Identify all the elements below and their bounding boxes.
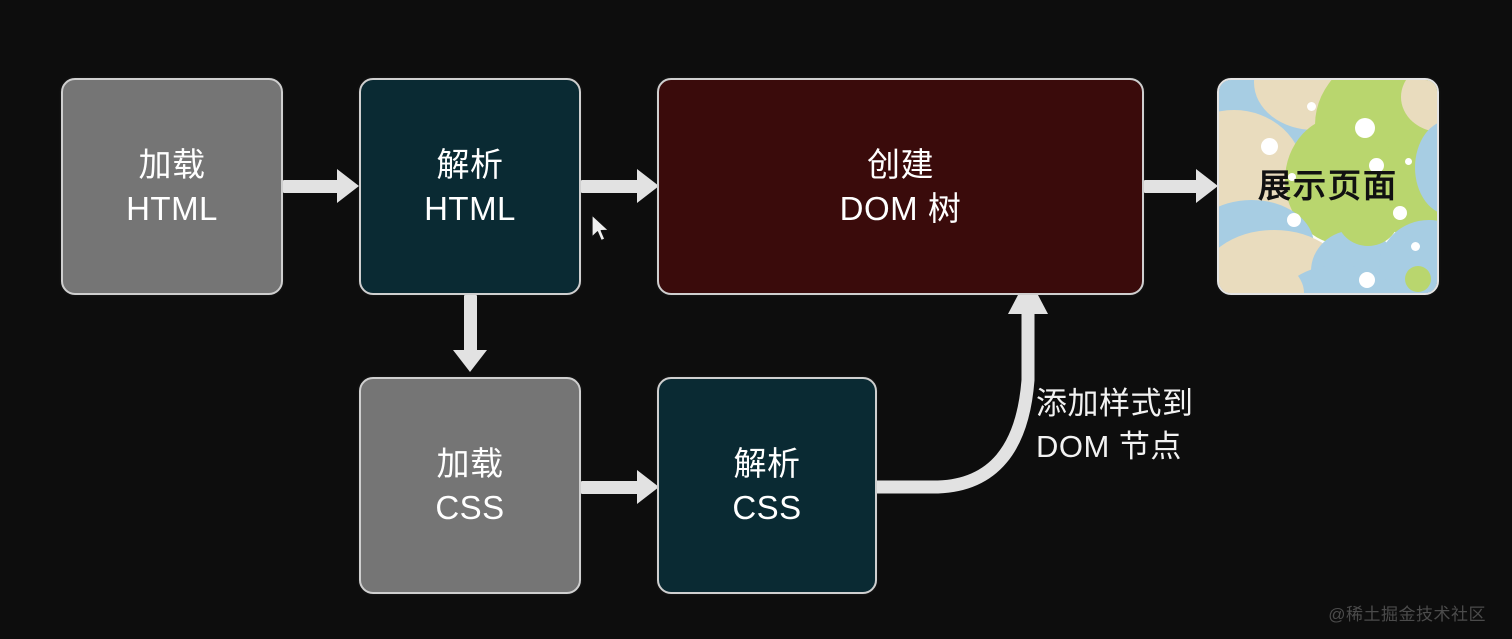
node-parse-html-line1: 解析: [437, 143, 504, 187]
arrow-parse-html-to-dom-tree-line: [581, 180, 643, 193]
edge-label-add-style-to-dom: 添加样式到 DOM 节点: [1036, 383, 1194, 469]
node-create-dom-tree-line1: 创建: [867, 143, 934, 187]
edge-label-line1: 添加样式到: [1036, 383, 1194, 426]
node-parse-html[interactable]: 解析 HTML: [359, 78, 581, 295]
diagram-canvas: 加载 HTML 解析 HTML 创建 DOM 树: [0, 0, 1512, 639]
arrow-parse-html-to-load-css-head-icon: [453, 350, 487, 372]
edge-label-line2: DOM 节点: [1036, 426, 1194, 469]
node-load-html-line2: HTML: [126, 187, 218, 231]
node-display-page-label: 展示页面: [1219, 164, 1437, 208]
arrow-dom-tree-to-display-line: [1144, 180, 1202, 193]
node-parse-css-line1: 解析: [734, 442, 801, 486]
arrow-load-css-to-parse-css-line: [581, 481, 643, 494]
node-load-css-line1: 加载: [437, 442, 504, 486]
node-parse-css[interactable]: 解析 CSS: [657, 377, 877, 594]
arrow-load-css-to-parse-css-head-icon: [637, 470, 659, 504]
node-parse-html-line2: HTML: [424, 187, 516, 231]
arrow-load-html-to-parse-html-head-icon: [337, 169, 359, 203]
arrow-dom-tree-to-display-head-icon: [1196, 169, 1218, 203]
watermark-text: @稀土掘金技术社区: [1328, 600, 1486, 625]
node-parse-css-line2: CSS: [732, 486, 801, 530]
arrow-parse-html-to-load-css-line: [464, 295, 477, 357]
node-load-html-line1: 加载: [139, 143, 206, 187]
node-load-css[interactable]: 加载 CSS: [359, 377, 581, 594]
node-create-dom-tree-line2: DOM 树: [840, 187, 962, 231]
node-load-css-line2: CSS: [435, 486, 504, 530]
node-display-page[interactable]: 展示页面: [1217, 78, 1439, 295]
arrow-load-html-to-parse-html-line: [283, 180, 343, 193]
mouse-cursor-icon: [590, 214, 612, 244]
arrow-parse-html-to-dom-tree-head-icon: [637, 169, 659, 203]
node-load-html[interactable]: 加载 HTML: [61, 78, 283, 295]
map-thumbnail: 展示页面: [1219, 80, 1437, 293]
node-create-dom-tree[interactable]: 创建 DOM 树: [657, 78, 1144, 295]
